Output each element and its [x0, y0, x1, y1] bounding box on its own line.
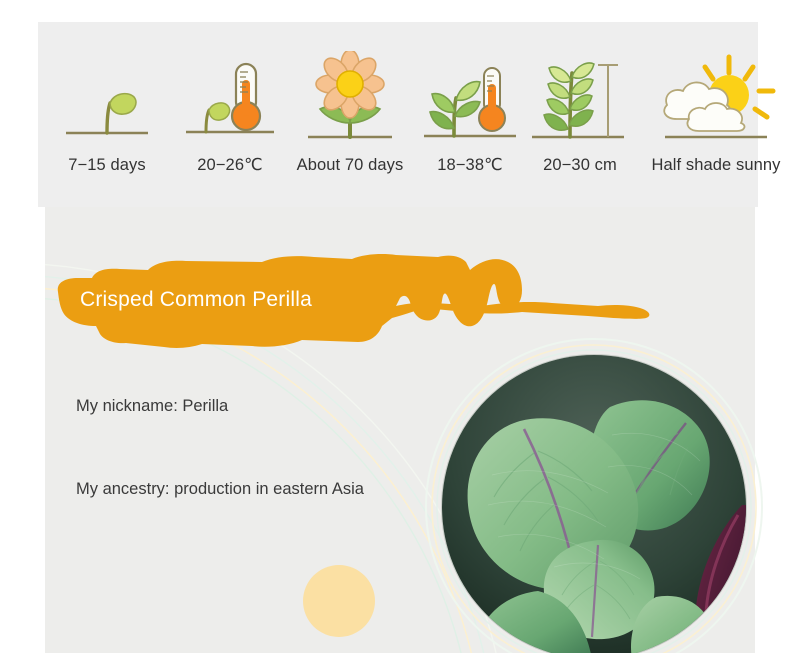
headline-brush: Crisped Common Perilla — [52, 248, 672, 360]
sprout-thermometer-icon — [180, 50, 280, 146]
ancestry-text: My ancestry: production in eastern Asia — [76, 480, 364, 499]
plant-photo — [442, 355, 746, 653]
fact-label: About 70 days — [297, 156, 404, 175]
plant-ruler-icon — [528, 51, 632, 147]
fact-item-germination: 7−15 days — [38, 51, 176, 175]
flower-icon — [290, 51, 410, 147]
plant-thermometer-icon — [420, 50, 520, 146]
fact-item-germination-temp: 20−26℃ — [176, 50, 284, 175]
fact-item-flowering: About 70 days — [284, 51, 416, 175]
nickname-text: My nickname: Perilla — [76, 397, 228, 416]
fact-item-light: Half shade sunny — [636, 51, 796, 175]
sun-cloud-icon — [641, 51, 791, 147]
sprout-icon — [52, 51, 162, 147]
fact-item-height: 20−30 cm — [524, 51, 636, 175]
fact-label: 18−38℃ — [437, 155, 502, 175]
fact-label: 20−30 cm — [543, 156, 617, 175]
fact-label: 20−26℃ — [197, 155, 262, 175]
growth-facts-row: 7−15 days — [38, 40, 778, 175]
page-root: Crisped Common Perilla My nickname: Peri… — [0, 0, 800, 653]
fact-label: 7−15 days — [68, 156, 146, 175]
fact-item-growth-temp: 18−38℃ — [416, 50, 524, 175]
plant-photo-container — [424, 337, 764, 653]
page-title: Crisped Common Perilla — [80, 288, 312, 312]
fact-label: Half shade sunny — [651, 156, 780, 175]
yellow-accent-circle — [303, 565, 375, 637]
